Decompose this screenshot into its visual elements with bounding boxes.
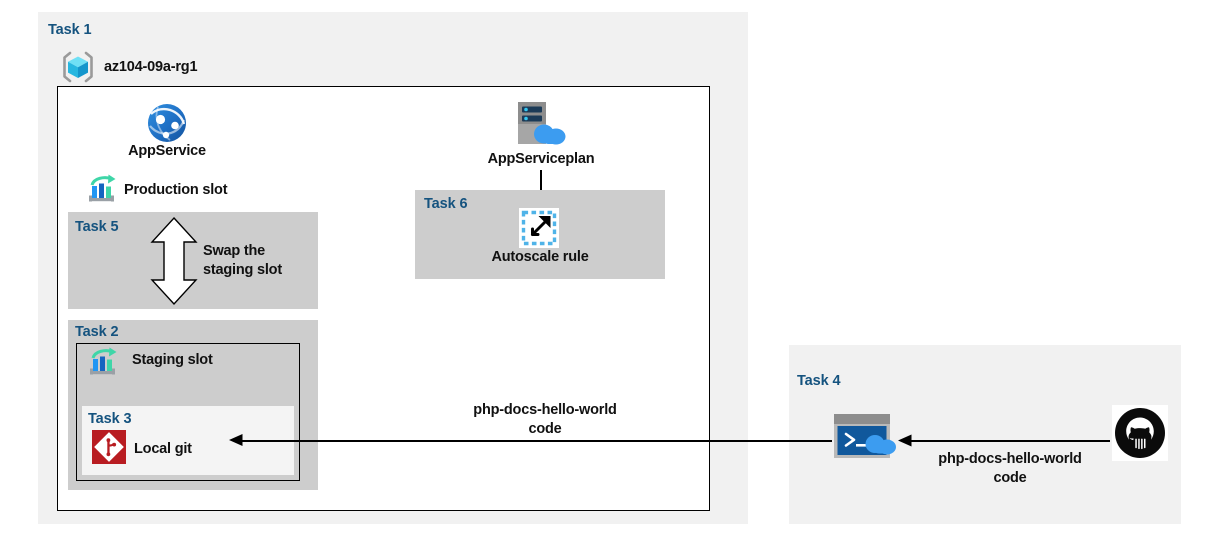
shell-to-localgit-arrow-line — [240, 440, 832, 442]
swap-arrow-label: Swap the staging slot — [203, 242, 315, 279]
code-flow-outer-label: php-docs-hello-world code — [925, 450, 1095, 487]
resource-group-icon — [60, 50, 96, 84]
code-flow-inner-line2: code — [528, 421, 561, 437]
cloud-shell-icon — [831, 411, 903, 461]
task6-label: Task 6 — [424, 196, 467, 212]
github-to-shell-arrow-head — [898, 434, 912, 447]
task5-label: Task 5 — [75, 219, 118, 235]
github-icon — [1112, 405, 1168, 461]
shell-to-localgit-arrow-head — [229, 433, 243, 447]
code-flow-outer-line1: php-docs-hello-world — [938, 451, 1081, 467]
app-service-plan-label: AppServiceplan — [470, 150, 612, 169]
resource-group-label: az104-09a-rg1 — [104, 58, 197, 77]
task4-label: Task 4 — [797, 373, 840, 389]
autoscale-rule-label: Autoscale rule — [470, 248, 610, 267]
code-flow-outer-line2: code — [993, 470, 1026, 486]
autoscale-icon — [519, 208, 559, 248]
diagram-canvas: Task 1 az104-09a-rg1 — [0, 0, 1218, 545]
swap-label-line2: staging slot — [203, 262, 282, 278]
github-to-shell-arrow-line — [905, 440, 1110, 442]
task3-label: Task 3 — [88, 411, 131, 427]
production-slot-label: Production slot — [124, 181, 227, 200]
swap-double-arrow-icon — [143, 216, 205, 306]
task2-label: Task 2 — [75, 324, 118, 340]
app-service-plan-icon — [512, 100, 570, 148]
local-git-label: Local git — [134, 440, 192, 459]
app-service-icon — [146, 102, 188, 144]
task1-label: Task 1 — [48, 22, 91, 38]
git-icon — [92, 430, 126, 464]
swap-label-line1: Swap the — [203, 243, 265, 259]
production-slot-icon — [87, 174, 119, 204]
code-flow-inner-label: php-docs-hello-world code — [460, 401, 630, 438]
staging-slot-label: Staging slot — [132, 351, 213, 370]
code-flow-inner-line1: php-docs-hello-world — [473, 402, 616, 418]
staging-slot-icon — [88, 347, 120, 377]
app-service-label: AppService — [121, 142, 213, 161]
